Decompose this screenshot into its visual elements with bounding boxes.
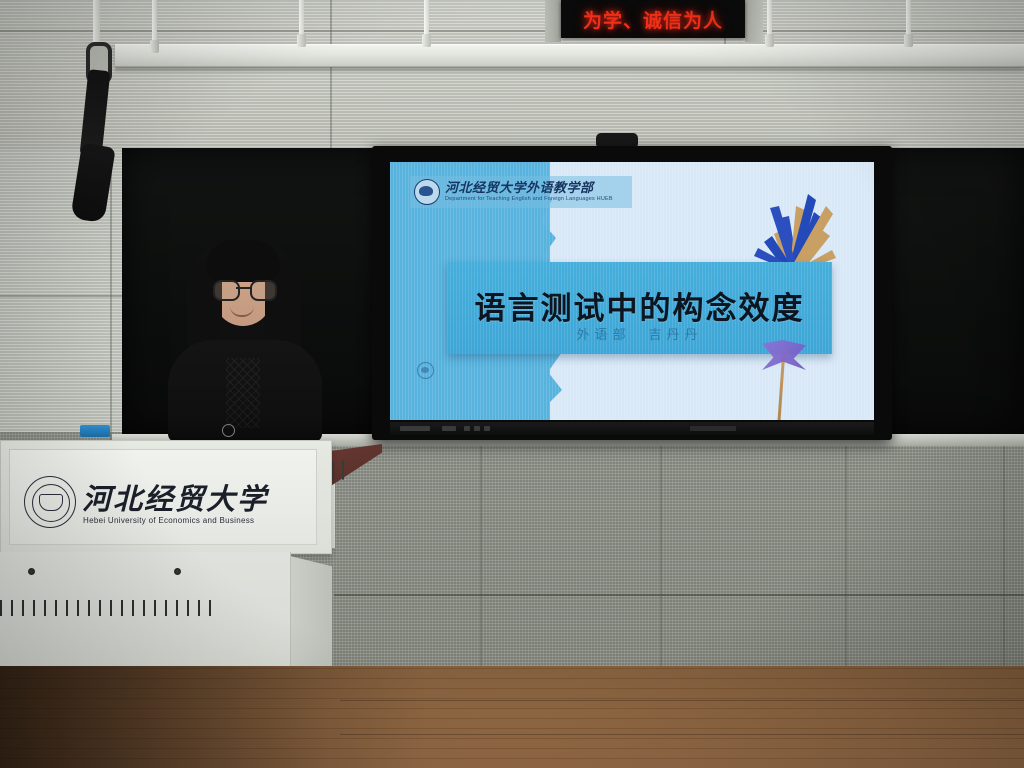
wall-seam: [845, 440, 847, 672]
sweater-lace-pattern: [226, 358, 260, 428]
glasses-bridge: [236, 287, 250, 289]
university-crest-logo: [414, 179, 440, 205]
display-bezel-bottom: [390, 422, 874, 435]
led-scrolling-banner: 为学、诚信为人: [561, 0, 745, 38]
podium-front-panel: 河北经贸大学 Hebei University of Economics and…: [0, 440, 332, 554]
display-brand-mark: [690, 426, 736, 431]
ceiling-rod-cap: [422, 34, 431, 47]
led-frame-left: [545, 0, 561, 42]
cabinet-fastener: [28, 568, 35, 575]
floor-plank-seam: [340, 734, 1024, 735]
wall-seam: [0, 30, 560, 32]
wall-seam: [480, 440, 482, 672]
slide-header: 河北经贸大学外语教学部 Department for Teaching Engl…: [410, 176, 632, 208]
slide-watermark-logo: [417, 362, 434, 379]
ceiling-rod-cap: [904, 34, 913, 47]
display-port[interactable]: [464, 426, 470, 431]
display-port[interactable]: [484, 426, 490, 431]
wall-seam: [763, 30, 1024, 32]
blue-eraser[interactable]: [80, 425, 110, 437]
wall-seam: [660, 440, 662, 672]
led-banner-text: 为学、诚信为人: [583, 6, 723, 33]
cabinet-vents: [0, 600, 214, 616]
university-seal-logo: [24, 476, 76, 528]
display-camera-module: [596, 133, 638, 147]
display-screen[interactable]: 河北经贸大学外语教学部 Department for Teaching Engl…: [390, 162, 874, 420]
lens-right: [250, 280, 277, 301]
eyeglasses-icon: [213, 280, 273, 297]
presentation-slide: 河北经贸大学外语教学部 Department for Teaching Engl…: [390, 162, 874, 420]
wall-seam: [330, 0, 332, 150]
slide-subtitle: 外语部 吉丹丹: [447, 324, 832, 343]
presenter: [160, 228, 330, 440]
display-button[interactable]: [442, 426, 456, 431]
display-port[interactable]: [474, 426, 480, 431]
rail-shadow: [115, 66, 1024, 73]
wall-seam: [110, 150, 112, 450]
wall-seam: [334, 594, 1024, 596]
ceiling-rod-cap: [297, 34, 306, 47]
interactive-display[interactable]: 河北经贸大学外语教学部 Department for Teaching Engl…: [372, 146, 892, 440]
slide-title-banner: 语言测试中的构念效度 外语部 吉丹丹: [447, 262, 832, 354]
hanging-pole: [93, 0, 100, 48]
led-frame-right: [745, 0, 763, 42]
slide-header-en: Department for Teaching English and Fore…: [445, 197, 613, 203]
ceiling-curtain-rail: [115, 44, 1024, 67]
podium-signage: 河北经贸大学 Hebei University of Economics and…: [9, 449, 317, 545]
slide-title: 语言测试中的构念效度: [447, 283, 832, 328]
podium-name-cn: 河北经贸大学: [82, 476, 268, 518]
ceiling-rod-cap: [150, 40, 159, 53]
floor-plank-seam: [340, 700, 1024, 701]
display-button[interactable]: [400, 426, 430, 431]
cabinet-fastener: [174, 568, 181, 575]
podium-name-en: Hebei University of Economics and Busine…: [83, 516, 254, 525]
wall-seam: [0, 295, 128, 297]
sweater-button: [222, 424, 235, 437]
lens-left: [213, 280, 240, 301]
hair-fringe: [206, 240, 280, 282]
wall-seam: [1003, 440, 1005, 672]
slide-header-cn: 河北经贸大学外语教学部: [445, 182, 613, 195]
floor-shadow: [0, 666, 430, 768]
ceiling-rod-cap: [765, 34, 774, 47]
left-wall-panel: [0, 150, 128, 450]
classroom-photo: 为学、诚信为人: [0, 0, 1024, 768]
